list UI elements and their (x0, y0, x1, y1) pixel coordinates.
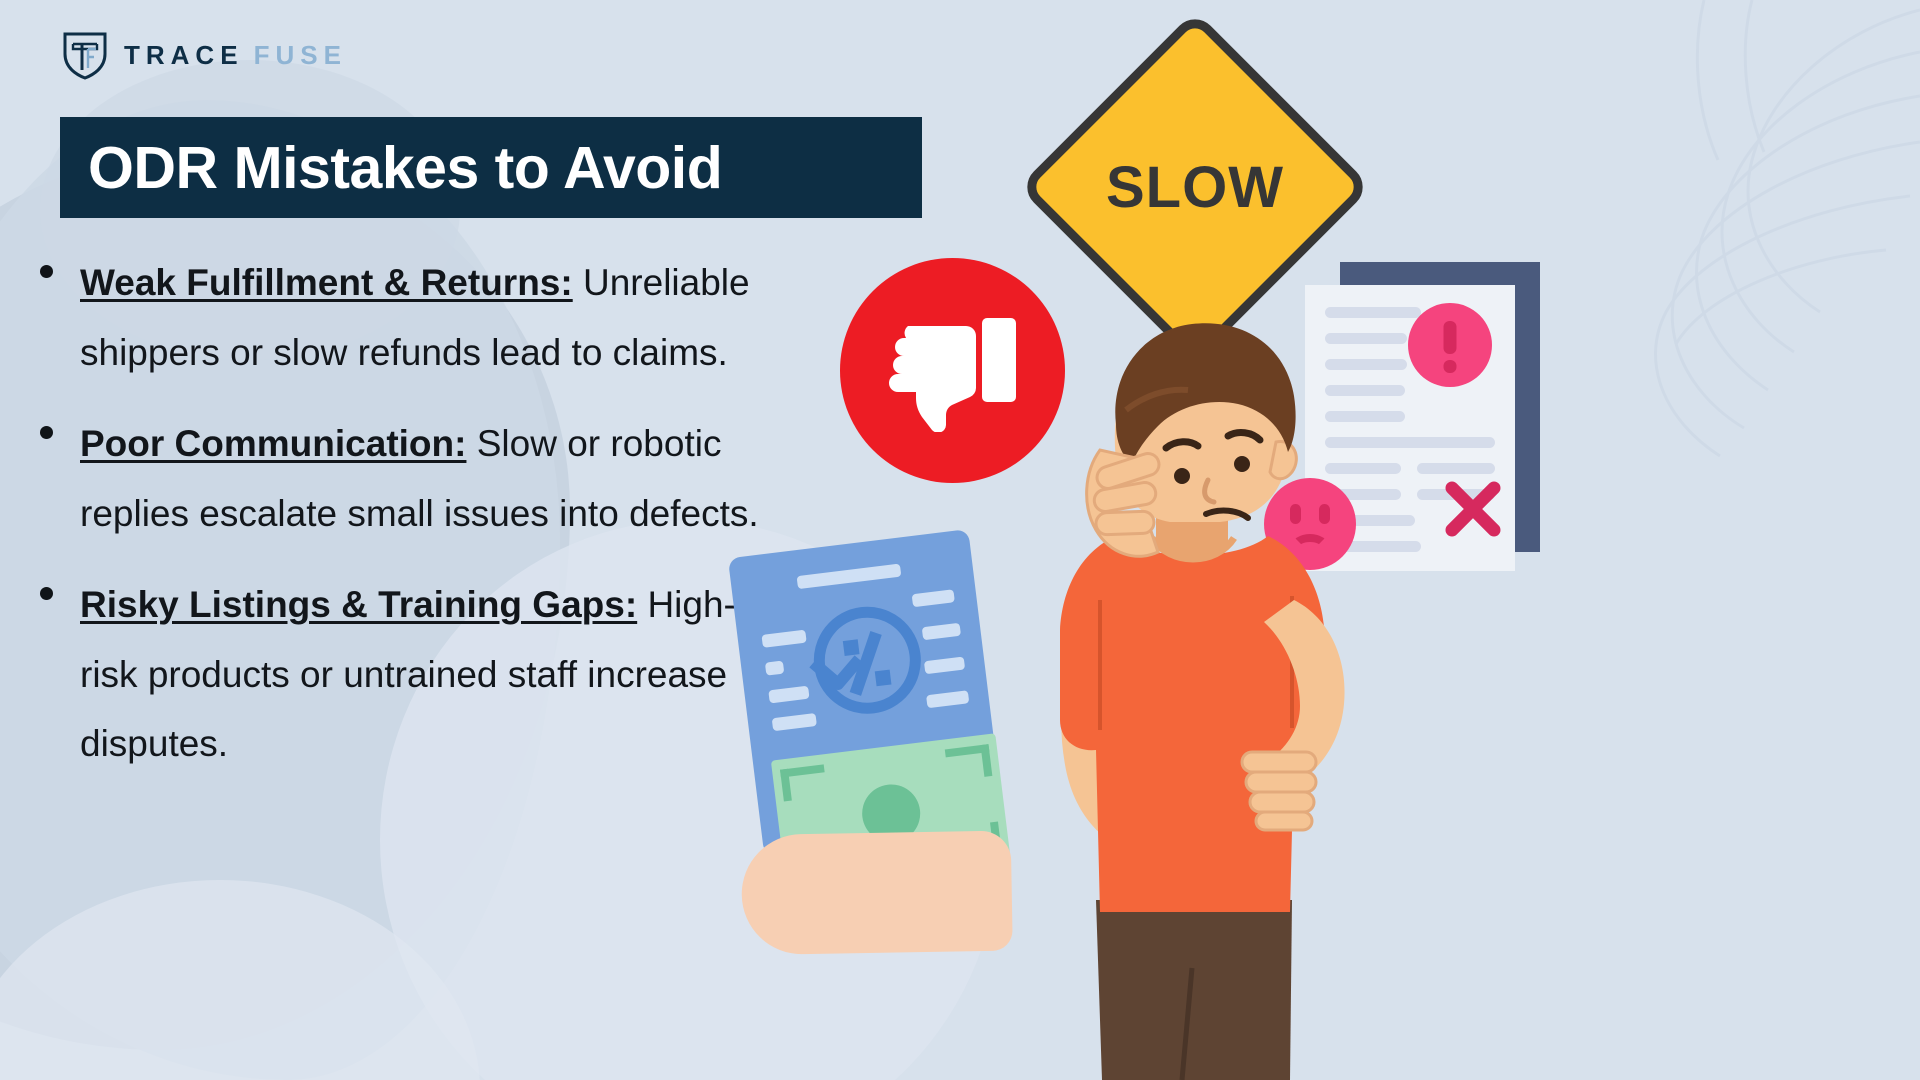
bullet-lead: Weak Fulfillment & Returns: (80, 262, 573, 303)
bullet-dot-icon (40, 426, 53, 439)
bullet-lead: Risky Listings & Training Gaps: (80, 584, 637, 625)
page-title: ODR Mistakes to Avoid (60, 134, 722, 202)
brand-logo[interactable]: TRACE FUSE (62, 30, 347, 80)
bullet-dot-icon (40, 265, 53, 278)
x-mark-icon (1442, 478, 1504, 540)
shield-tf-monogram-icon (62, 30, 108, 80)
bullet-lead: Poor Communication: (80, 423, 466, 464)
bullet-dot-icon (40, 587, 53, 600)
sign-label: SLOW (1070, 62, 1320, 312)
list-item: Weak Fulfillment & Returns: Unreliable s… (28, 248, 788, 387)
logo-text-secondary: FUSE (254, 40, 347, 71)
confused-person-icon (920, 300, 1440, 1080)
illustration-stage: SLOW (740, 0, 1920, 1080)
list-item: Risky Listings & Training Gaps: High-ris… (28, 570, 788, 779)
logo-text-primary: TRACE (124, 40, 244, 71)
bullet-list: Weak Fulfillment & Returns: Unreliable s… (28, 248, 788, 801)
list-item: Poor Communication: Slow or robotic repl… (28, 409, 788, 548)
percent-refresh-icon (800, 593, 934, 727)
slow-road-sign-icon: SLOW (1070, 62, 1320, 312)
